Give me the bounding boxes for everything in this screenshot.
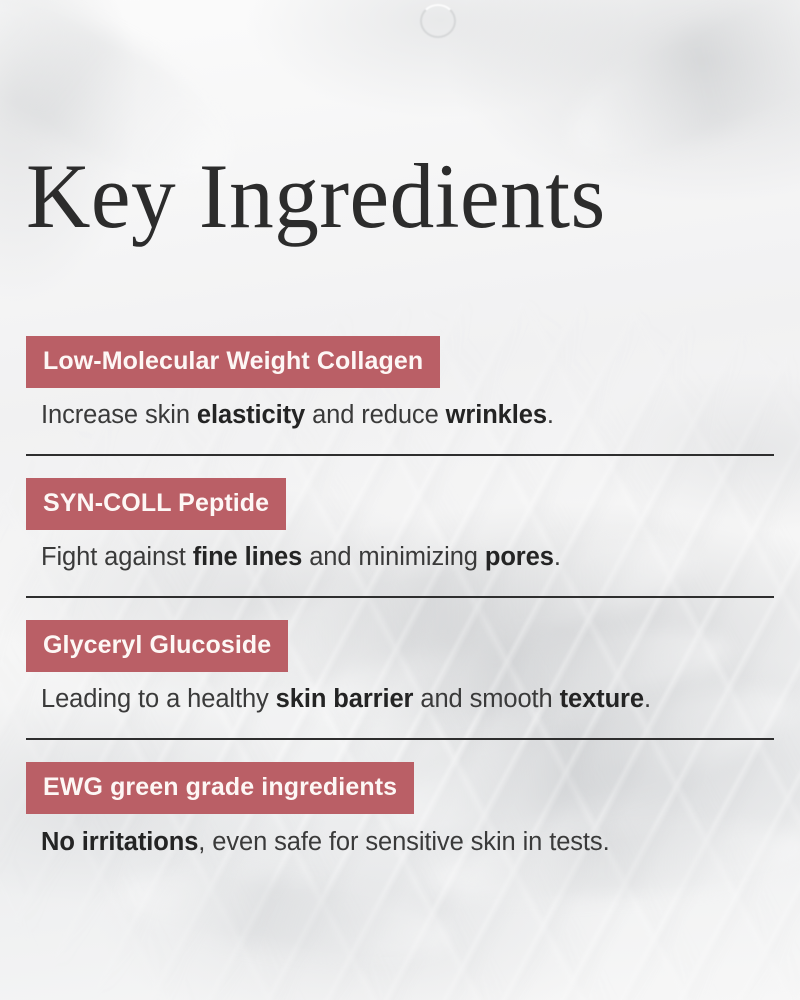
- ingredient-item: Low-Molecular Weight Collagen Increase s…: [26, 336, 774, 432]
- ingredient-badge: SYN-COLL Peptide: [26, 478, 286, 530]
- ingredient-item: Glyceryl Glucoside Leading to a healthy …: [26, 596, 774, 716]
- key-ingredients-page: Key Ingredients Low-Molecular Weight Col…: [0, 0, 800, 1000]
- ingredient-badge: Low-Molecular Weight Collagen: [26, 336, 440, 388]
- page-title: Key Ingredients: [26, 150, 606, 242]
- ingredient-badge: EWG green grade ingredients: [26, 762, 414, 814]
- ingredient-description: Increase skin elasticity and reduce wrin…: [41, 400, 774, 432]
- section-divider: [26, 596, 774, 598]
- ingredient-description: No irritations, even safe for sensitive …: [41, 827, 774, 859]
- section-divider: [26, 738, 774, 740]
- ingredient-list: Low-Molecular Weight Collagen Increase s…: [26, 336, 774, 859]
- ingredient-description: Leading to a healthy skin barrier and sm…: [41, 684, 774, 716]
- section-divider: [26, 454, 774, 456]
- ingredient-item: EWG green grade ingredients No irritatio…: [26, 738, 774, 859]
- ingredient-description: Fight against fine lines and minimizing …: [41, 542, 774, 574]
- ingredient-item: SYN-COLL Peptide Fight against fine line…: [26, 454, 774, 574]
- ingredient-badge: Glyceryl Glucoside: [26, 620, 288, 672]
